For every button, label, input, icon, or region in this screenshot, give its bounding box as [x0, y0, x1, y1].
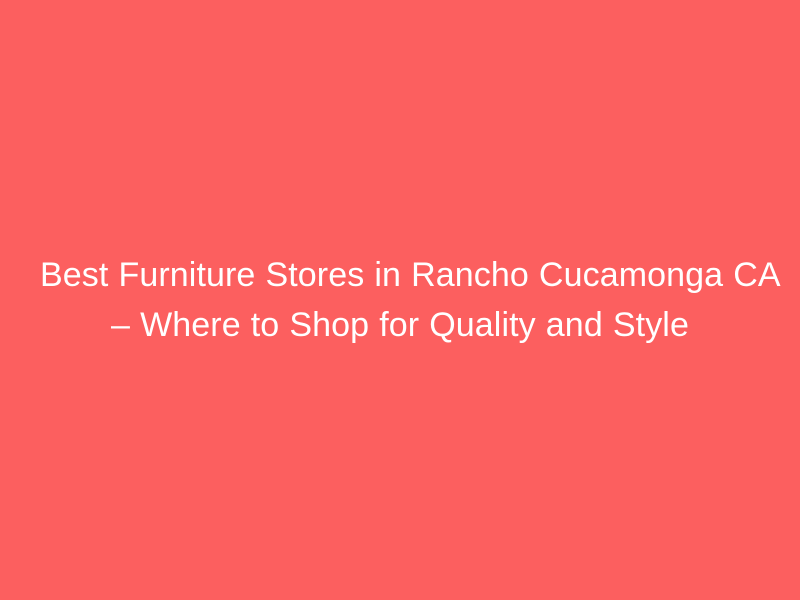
- page-title: Best Furniture Stores in Rancho Cucamong…: [40, 250, 760, 350]
- page-title-line-1: Best Furniture Stores in Rancho Cucamong…: [40, 250, 760, 300]
- page-title-line-2: – Where to Shop for Quality and Style: [40, 300, 760, 350]
- title-card: Best Furniture Stores in Rancho Cucamong…: [0, 0, 800, 600]
- headline-block: Best Furniture Stores in Rancho Cucamong…: [20, 250, 780, 350]
